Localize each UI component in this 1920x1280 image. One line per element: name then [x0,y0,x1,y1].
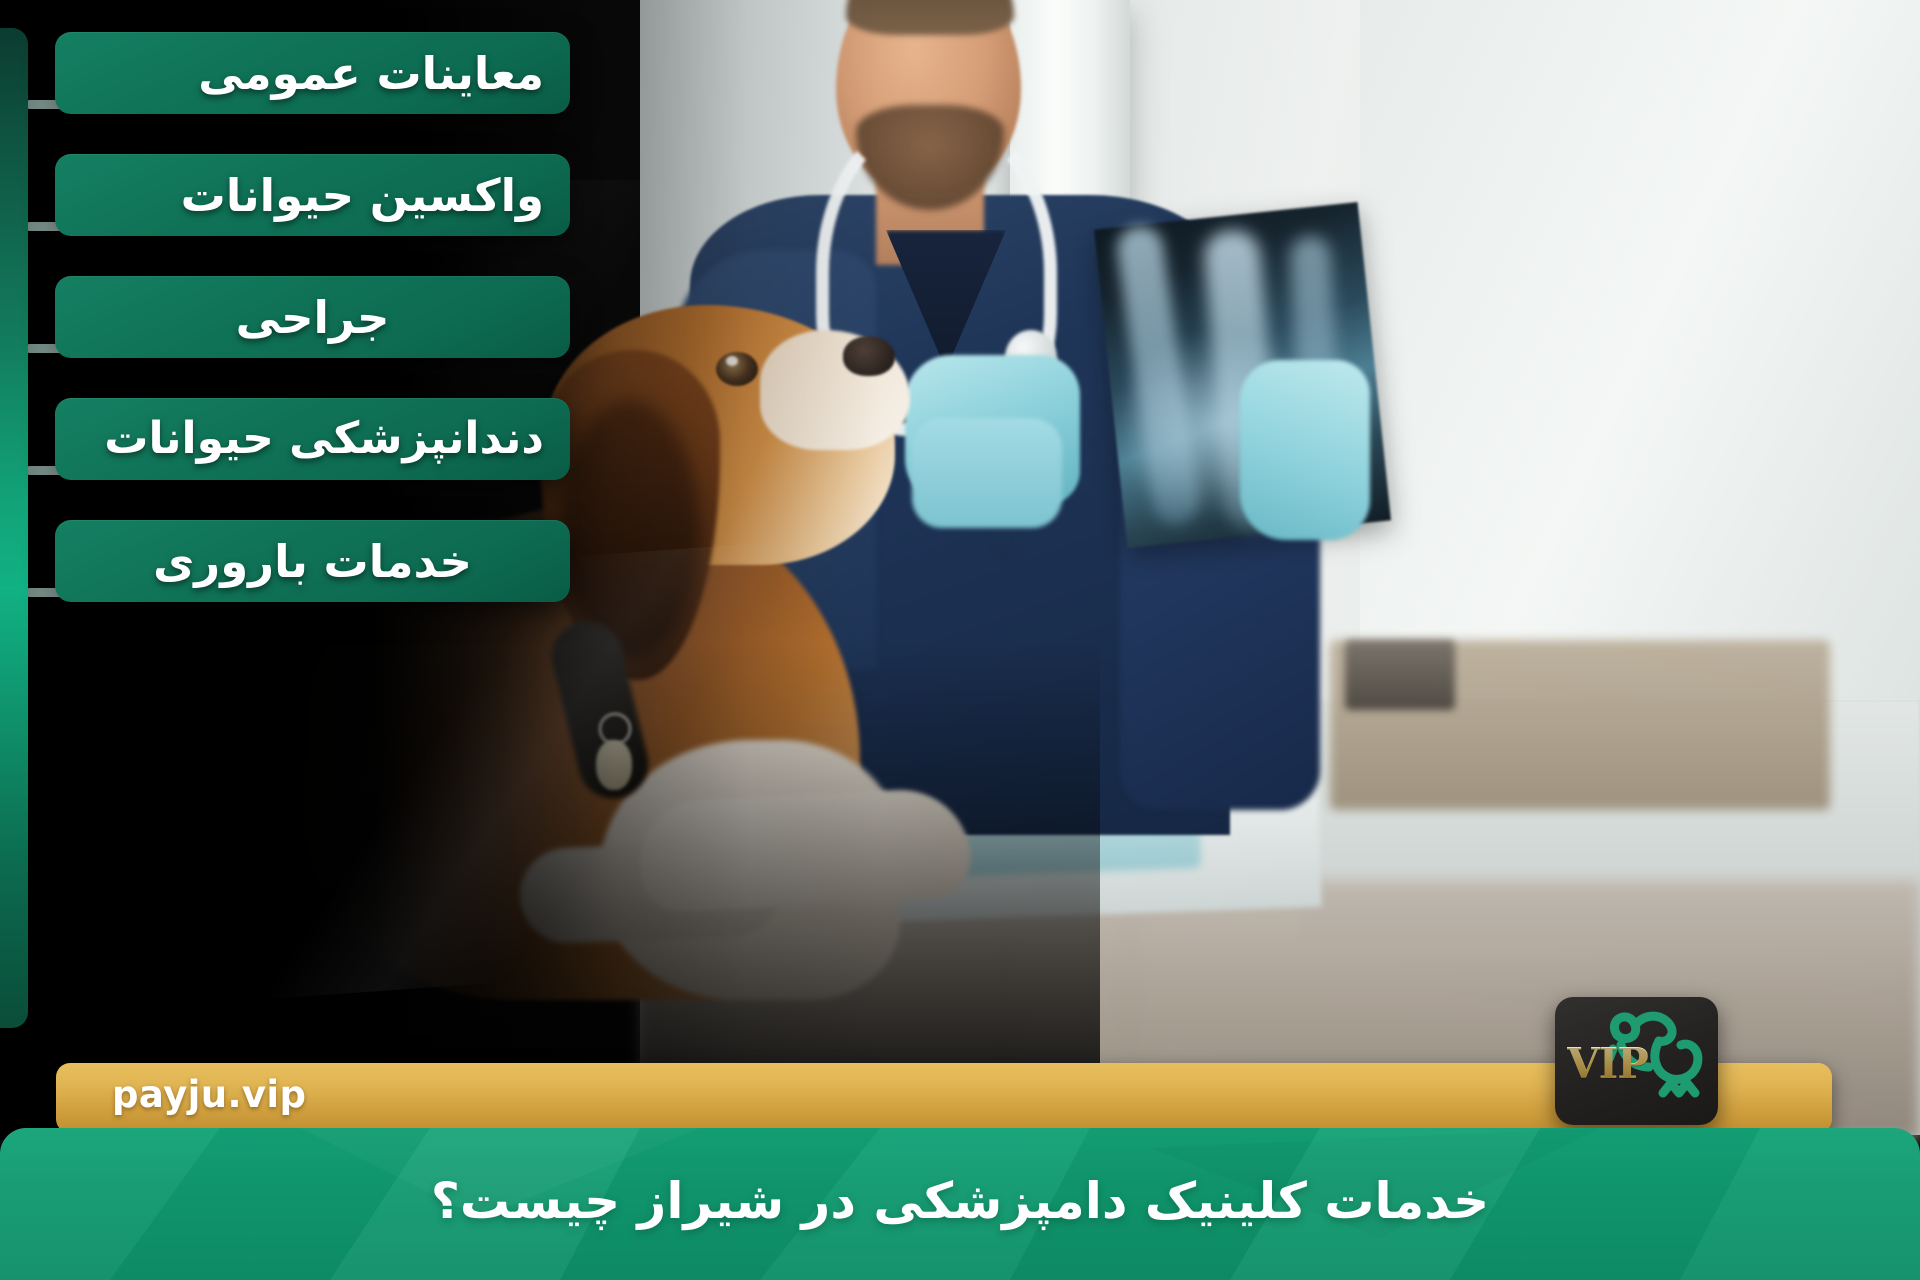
brand-logo[interactable]: VIP [1555,997,1718,1125]
service-tab-label: واکسین حیوانات [181,173,544,218]
logo-vip-text: VIP [1567,1039,1648,1088]
footer-banner: خدمات کلینیک دامپزشکی در شیراز چیست؟ [0,1128,1920,1280]
wall-panel-right [1360,0,1920,700]
service-tab-label: معاینات عمومی [198,51,544,96]
service-tab-label: خدمات باروری [153,539,472,584]
service-tab-vaccination[interactable]: واکسین حیوانات [55,154,570,236]
latex-glove-right [1240,360,1370,540]
counter-object [1345,640,1455,710]
light-sheen-lower [166,536,894,1004]
service-tab-general-exam[interactable]: معاینات عمومی [55,32,570,114]
site-url-label: payju.vip [112,1073,306,1116]
service-tab-label: جراحی [236,295,390,340]
poster-canvas: معاینات عمومی واکسین حیوانات جراحی دندان… [0,0,1920,1280]
service-tab-dentistry[interactable]: دندانپزشکی حیوانات [55,398,570,480]
service-tab-label: دندانپزشکی حیوانات [104,417,544,461]
sidebar-rail [0,28,28,1028]
page-title: خدمات کلینیک دامپزشکی در شیراز چیست؟ [0,1128,1920,1280]
service-tab-surgery[interactable]: جراحی [55,276,570,358]
service-tab-fertility[interactable]: خدمات باروری [55,520,570,602]
